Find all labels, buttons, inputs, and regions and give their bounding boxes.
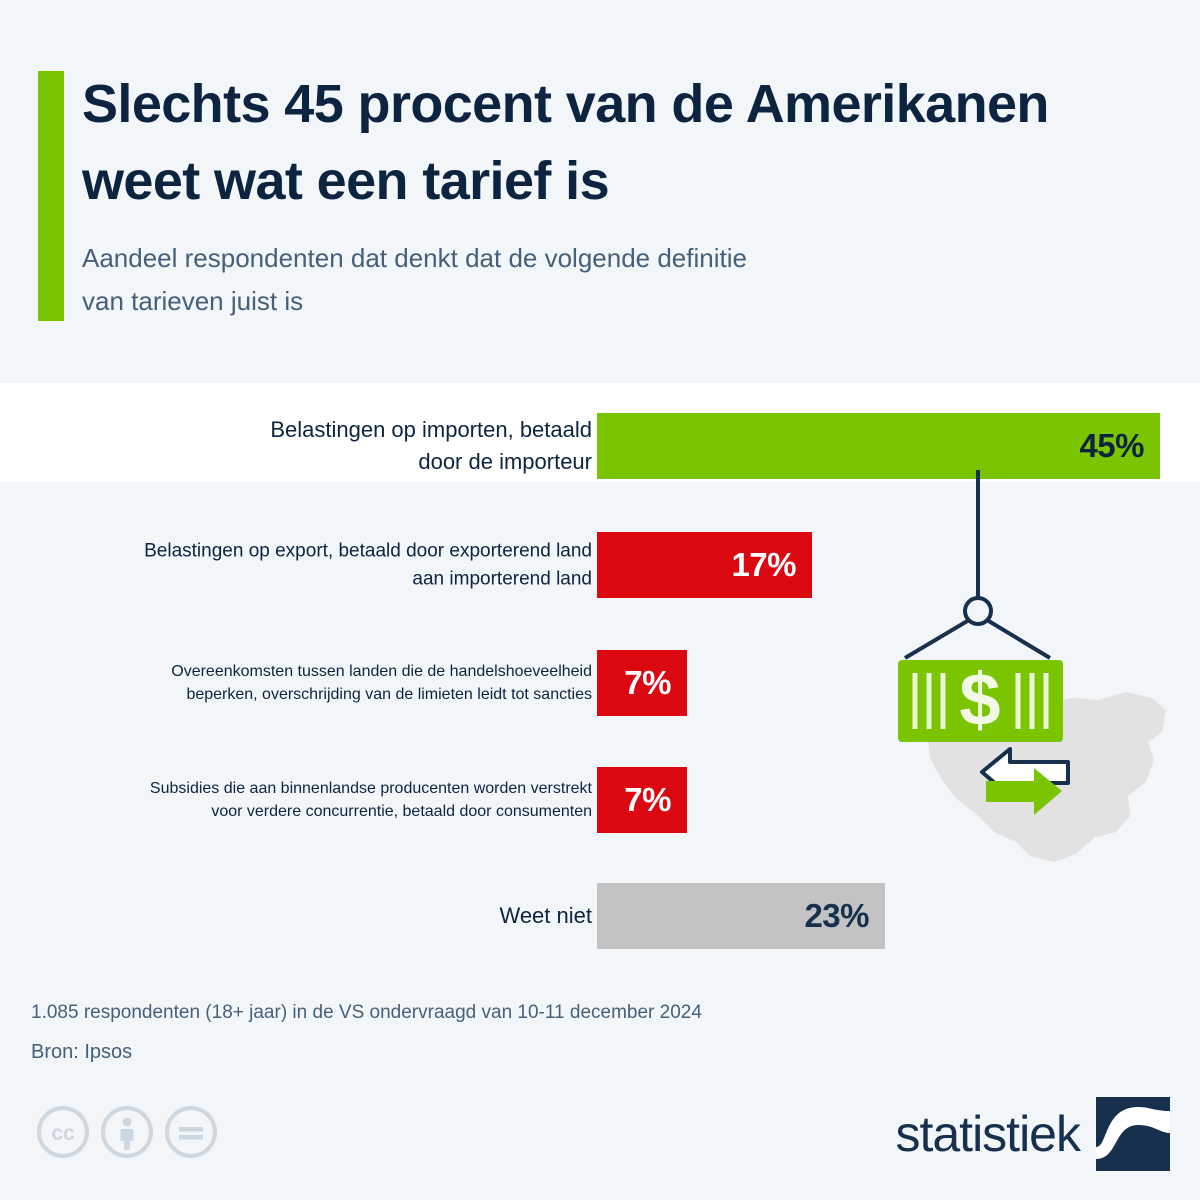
source-text: Bron: Ipsos <box>31 1042 132 1062</box>
no-derivatives-equals-icon[interactable] <box>164 1105 218 1159</box>
license-icons: cc <box>36 1105 218 1159</box>
bar-row: Belastingen op export, betaald door expo… <box>0 532 1200 598</box>
bar-shape[interactable]: 7% <box>597 767 687 833</box>
bar-shape[interactable]: 45% <box>597 413 1160 479</box>
bar-row: Belastingen op importen, betaald door de… <box>0 413 1200 479</box>
attribution-person-icon[interactable] <box>100 1105 154 1159</box>
bar-shape[interactable]: 7% <box>597 650 687 716</box>
header: Slechts 45 procent van de Amerikanen wee… <box>0 0 1200 383</box>
bar-value-label: 17% <box>731 546 812 584</box>
bar-category-label: Weet niet <box>499 900 592 932</box>
bar-chart: Belastingen op importen, betaald door de… <box>0 383 1200 983</box>
cc-icon[interactable]: cc <box>36 1105 90 1159</box>
bar-shape[interactable]: 17% <box>597 532 812 598</box>
bar-shape[interactable]: 23% <box>597 883 885 949</box>
green-accent-bar <box>38 71 64 321</box>
bar-value-label: 45% <box>1079 427 1160 465</box>
bar-row: Weet niet 23% <box>0 883 1200 949</box>
brand-logo[interactable]: statistiek <box>895 1097 1170 1171</box>
bar-value-label: 7% <box>624 781 687 819</box>
bar-value-label: 7% <box>624 664 687 702</box>
bar-row: Subsidies die aan binnenlandse producent… <box>0 767 1200 833</box>
bar-value-label: 23% <box>804 897 885 935</box>
statistiek-logo-mark <box>1096 1097 1170 1171</box>
bar-category-label: Belastingen op importen, betaald door de… <box>270 414 592 478</box>
bar-category-label: Overeenkomsten tussen landen die de hand… <box>171 660 592 706</box>
bar-category-label: Belastingen op export, betaald door expo… <box>144 537 592 592</box>
svg-text:cc: cc <box>51 1122 75 1145</box>
page-title: Slechts 45 procent van de Amerikanen wee… <box>82 66 1142 219</box>
page-subtitle: Aandeel respondenten dat denkt dat de vo… <box>82 237 1082 323</box>
bar-category-label: Subsidies die aan binnenlandse producent… <box>150 777 592 823</box>
brand-name: statistiek <box>895 1109 1080 1159</box>
footnote-text: 1.085 respondenten (18+ jaar) in de VS o… <box>31 1003 702 1022</box>
bar-row: Overeenkomsten tussen landen die de hand… <box>0 650 1200 716</box>
